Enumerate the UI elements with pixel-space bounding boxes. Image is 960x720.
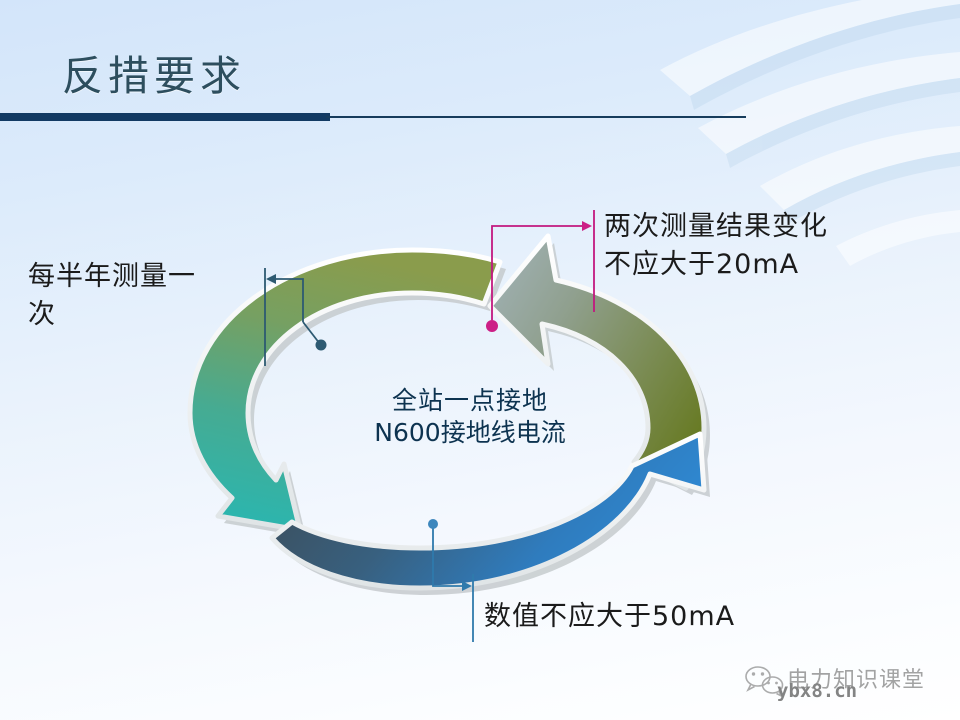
slide-canvas: 反措要求 [0,0,960,720]
callout-label-top: 两次测量结果变化 不应大于20mA [604,208,904,284]
center-caption-line1: 全站一点接地 [320,385,620,417]
page-title: 反措要求 [62,56,246,97]
callout-bottom-line1: 数值不应大于50mA [484,598,814,636]
center-caption-line2: N600接地线电流 [320,417,620,449]
center-caption: 全站一点接地 N600接地线电流 [320,385,620,449]
callout-left-line1: 每半年测量一 [28,258,263,296]
callout-label-bottom: 数值不应大于50mA [484,598,814,636]
watermark-url: ybx8.cn [777,680,857,702]
watermark: 电力知识课堂 ybx8.cn [735,660,950,712]
callout-top-line2: 不应大于20mA [604,246,904,284]
divider-thick-segment [0,113,330,121]
title-divider [0,110,960,124]
callout-label-left: 每半年测量一 次 [28,258,263,334]
divider-thin-segment [326,116,746,118]
callout-top-line1: 两次测量结果变化 [604,208,904,246]
callout-left-line2: 次 [28,296,263,334]
